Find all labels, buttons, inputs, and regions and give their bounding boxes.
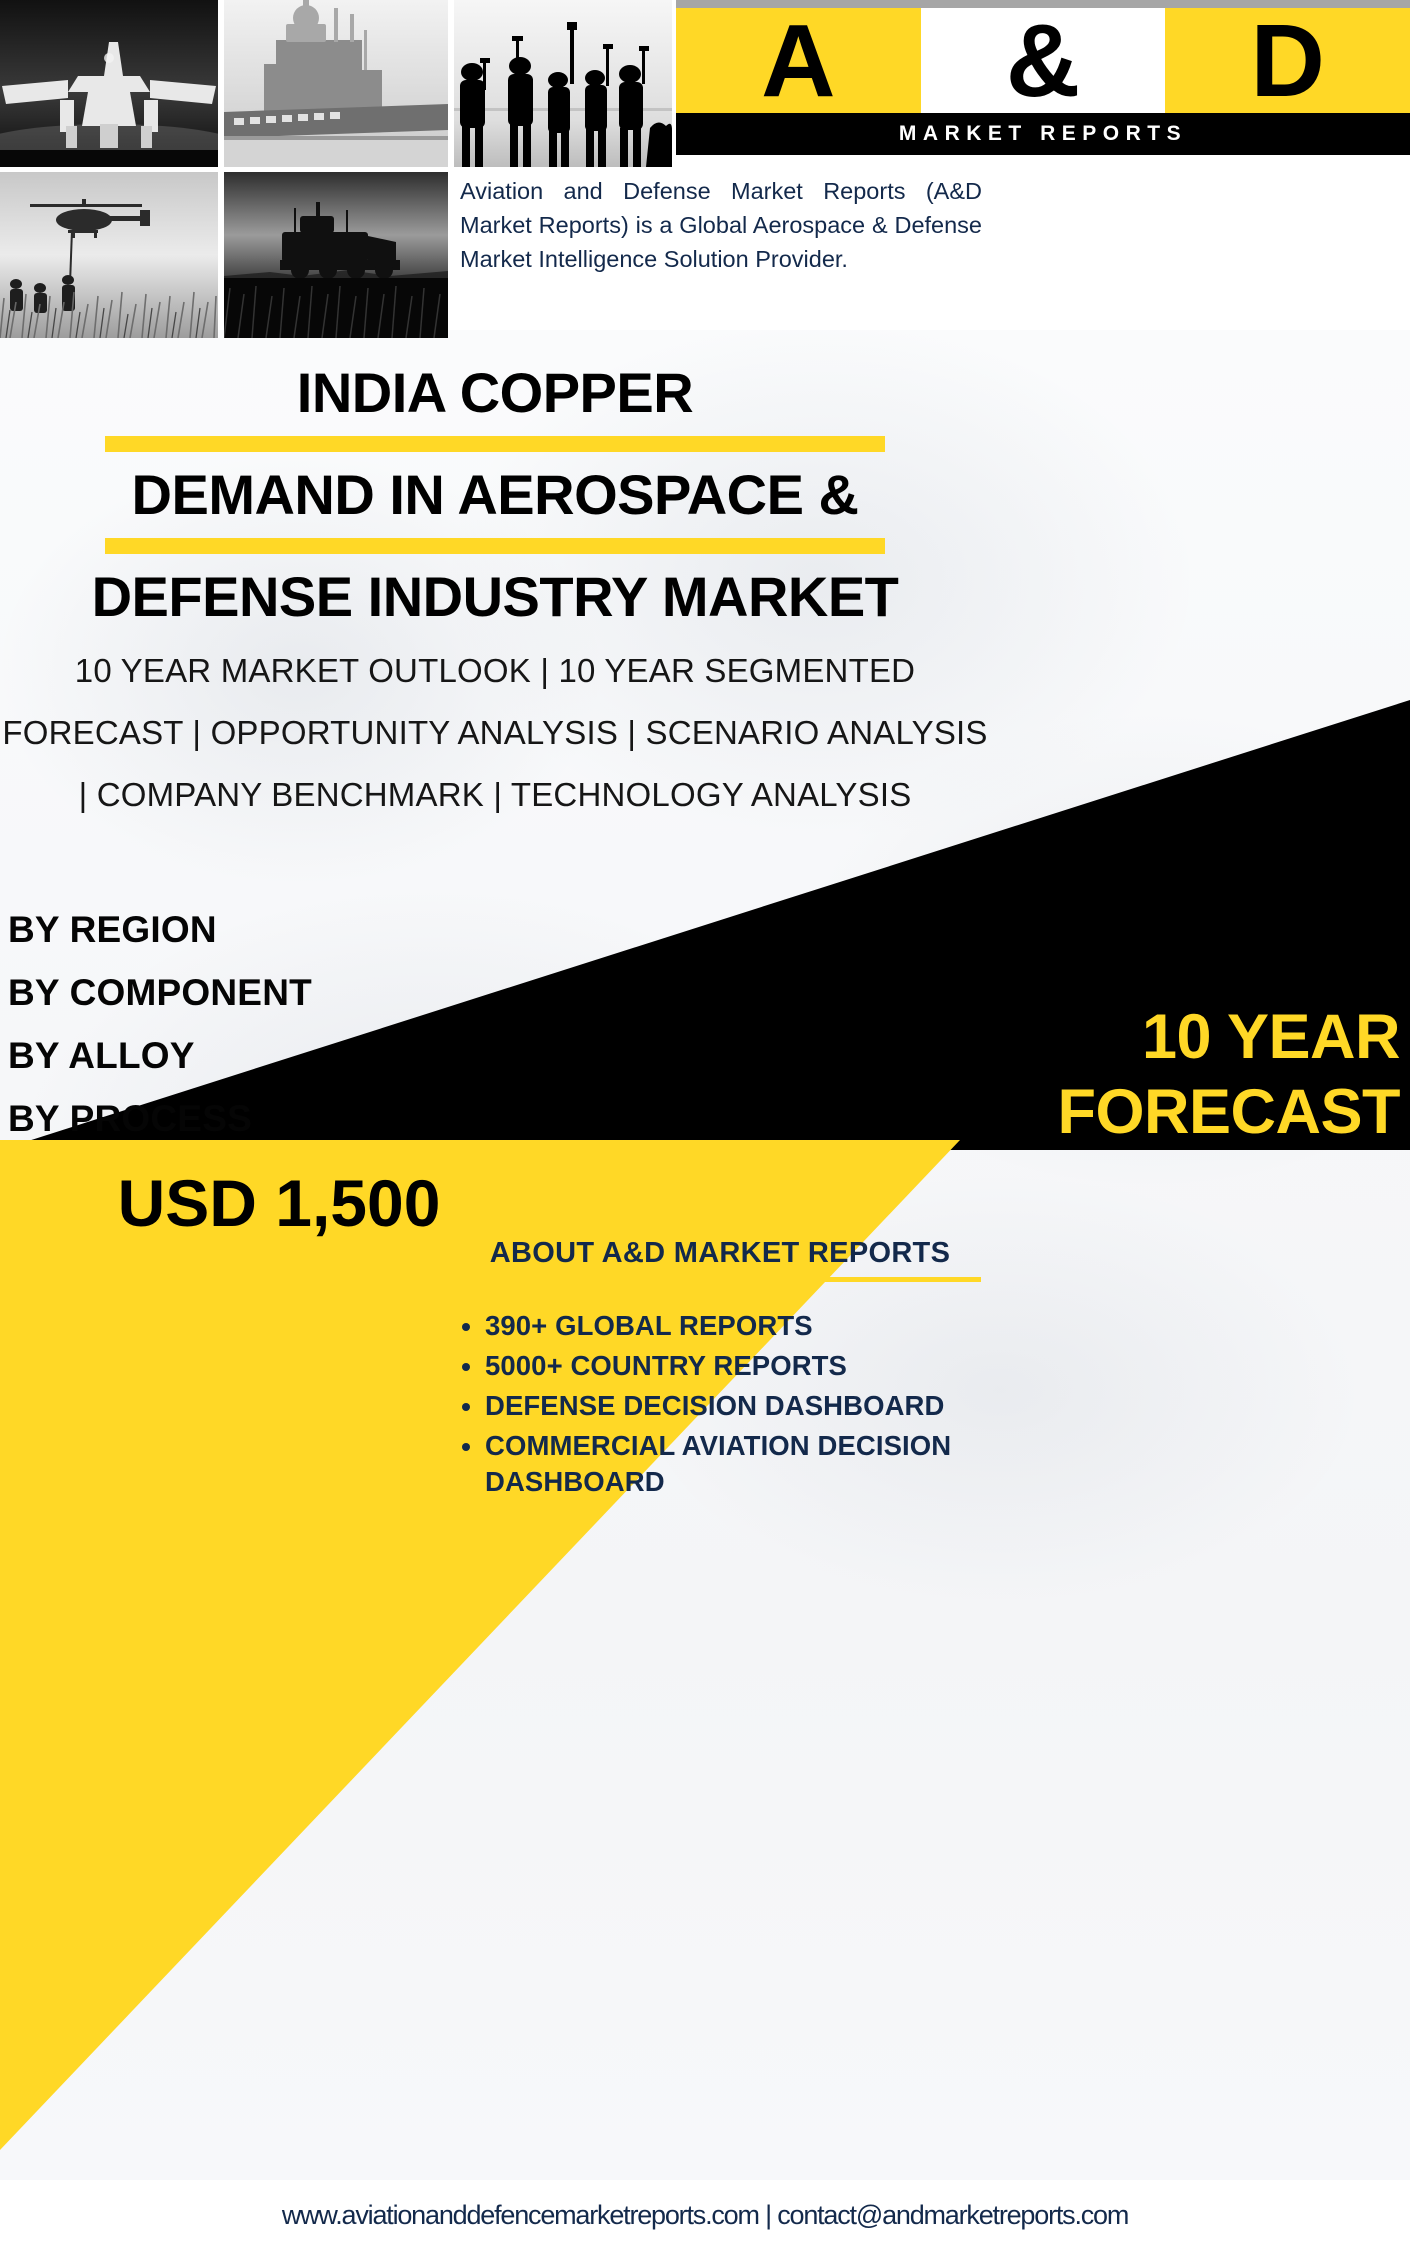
logo-letters: A & D xyxy=(676,8,1410,113)
report-subtitle: 10 YEAR MARKET OUTLOOK | 10 YEAR SEGMENT… xyxy=(0,640,990,826)
footer-contact-bar: www.aviationanddefencemarketreports.com … xyxy=(0,2180,1410,2250)
footer-contact-text[interactable]: www.aviationanddefencemarketreports.com … xyxy=(282,2200,1128,2231)
segment-item-region: BY REGION xyxy=(8,898,312,961)
about-bullet-list: 390+ GLOBAL REPORTS 5000+ COUNTRY REPORT… xyxy=(485,1308,985,1500)
hero-photo-grid xyxy=(0,0,672,338)
about-section: ABOUT A&D MARKET REPORTS 390+ GLOBAL REP… xyxy=(455,1235,985,1504)
company-intro-text: Aviation and Defense Market Reports (A&D… xyxy=(460,174,982,276)
aircraft-carrier-photo xyxy=(224,0,448,167)
title-divider-bar-2 xyxy=(105,538,885,554)
report-title-line1: INDIA COPPER xyxy=(0,360,990,426)
title-divider-bar-1 xyxy=(105,436,885,452)
logo-letter-ampersand: & xyxy=(921,8,1166,113)
soldiers-silhouette-photo xyxy=(454,0,672,167)
forecast-line1: 10 YEAR xyxy=(780,1000,1400,1075)
report-title-line3: DEFENSE INDUSTRY MARKET xyxy=(0,564,990,630)
brand-logo: A & D MARKET REPORTS xyxy=(676,0,1410,155)
forecast-callout: 10 YEAR FORECAST xyxy=(780,1000,1400,1150)
about-bullet-commercial-dashboard: COMMERCIAL AVIATION DECISION DASHBOARD xyxy=(485,1428,985,1500)
logo-tagline: MARKET REPORTS xyxy=(899,122,1187,146)
forecast-line2: FORECAST xyxy=(780,1075,1400,1150)
logo-letter-d: D xyxy=(1165,8,1410,113)
about-bullet-country-reports: 5000+ COUNTRY REPORTS xyxy=(485,1348,985,1384)
segment-item-alloy: BY ALLOY xyxy=(8,1024,312,1087)
helicopter-troops-photo xyxy=(0,172,218,338)
price-value: USD 1,500 xyxy=(44,1163,514,1243)
segment-item-component: BY COMPONENT xyxy=(8,961,312,1024)
report-title-block: INDIA COPPER DEMAND IN AEROSPACE & DEFEN… xyxy=(0,360,990,630)
logo-tagline-band: MARKET REPORTS xyxy=(676,113,1410,155)
about-heading-underline xyxy=(465,1277,981,1282)
fighter-jet-photo xyxy=(0,0,218,167)
about-bullet-defense-dashboard: DEFENSE DECISION DASHBOARD xyxy=(485,1388,985,1424)
about-heading: ABOUT A&D MARKET REPORTS xyxy=(455,1235,985,1271)
report-title-line2: DEMAND IN AEROSPACE & xyxy=(0,462,990,528)
armored-vehicle-photo xyxy=(224,172,448,338)
segment-item-process: BY PROCESS xyxy=(8,1087,312,1150)
logo-letter-a: A xyxy=(676,8,921,113)
about-bullet-global-reports: 390+ GLOBAL REPORTS xyxy=(485,1308,985,1344)
segmentation-list: BY REGION BY COMPONENT BY ALLOY BY PROCE… xyxy=(8,898,312,1150)
